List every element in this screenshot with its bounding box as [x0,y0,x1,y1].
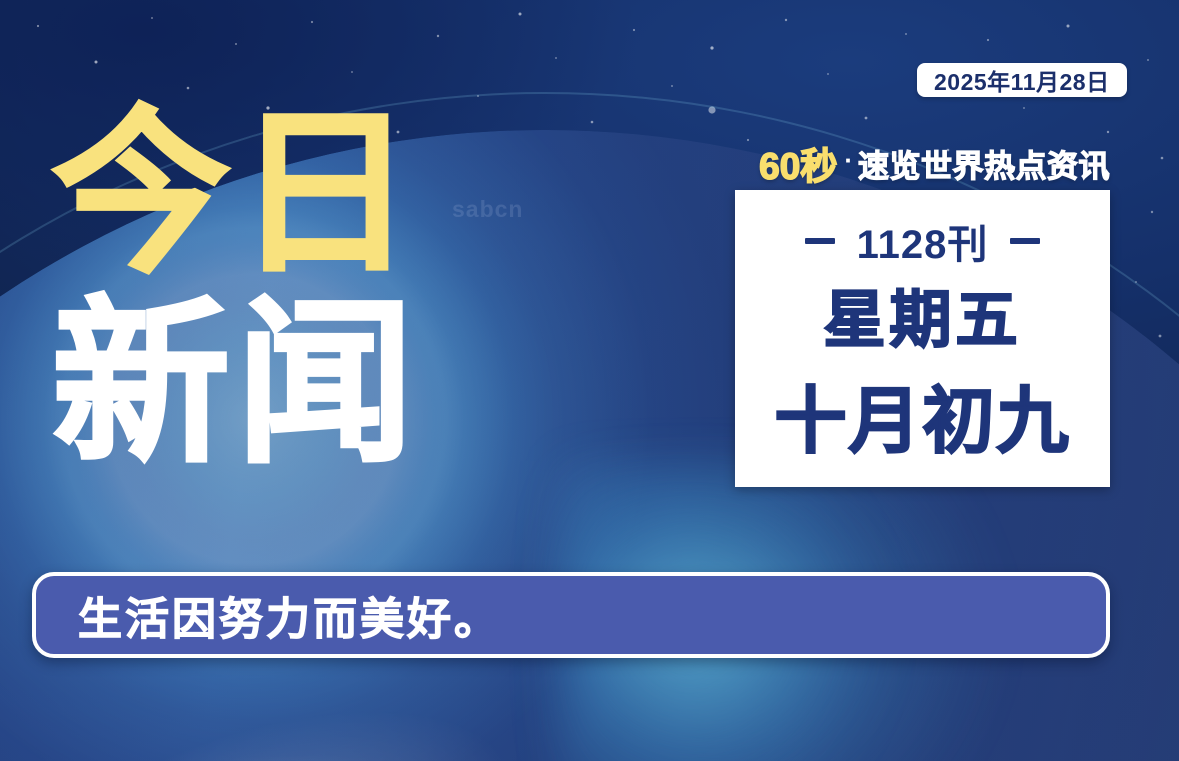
lunar-date-label: 十月初九 [774,386,1070,458]
slogan-banner: 生活因努力而美好。 [32,572,1110,658]
tagline: 60秒 · 速览世界热点资讯 [735,140,1110,186]
slogan-text: 生活因努力而美好。 [78,583,501,647]
issue-dash-left-icon [805,238,835,244]
issue-number-label: 1128刊 [857,212,989,270]
date-badge-label: 2025年11月28日 [934,63,1110,97]
date-badge: 2025年11月28日 [917,63,1127,97]
tagline-seconds: 60秒 [759,136,837,190]
issue-info-card: 1128刊 星期五 十月初九 [735,190,1110,487]
page-title-line-2: 新闻 [52,286,420,482]
issue-number-row: 1128刊 [805,212,1041,270]
news-poster: sabcn 今日 新闻 2025年11月28日 60秒 · 速览世界热点资讯 1… [0,0,1179,761]
page-title-line-1: 今日 [52,96,420,292]
poster-title: 今日 新闻 [52,96,420,482]
issue-dash-right-icon [1010,238,1040,244]
weekday-label: 星期五 [823,290,1021,352]
tagline-separator-dot: · [844,145,853,176]
tagline-description: 速览世界热点资讯 [858,141,1110,186]
